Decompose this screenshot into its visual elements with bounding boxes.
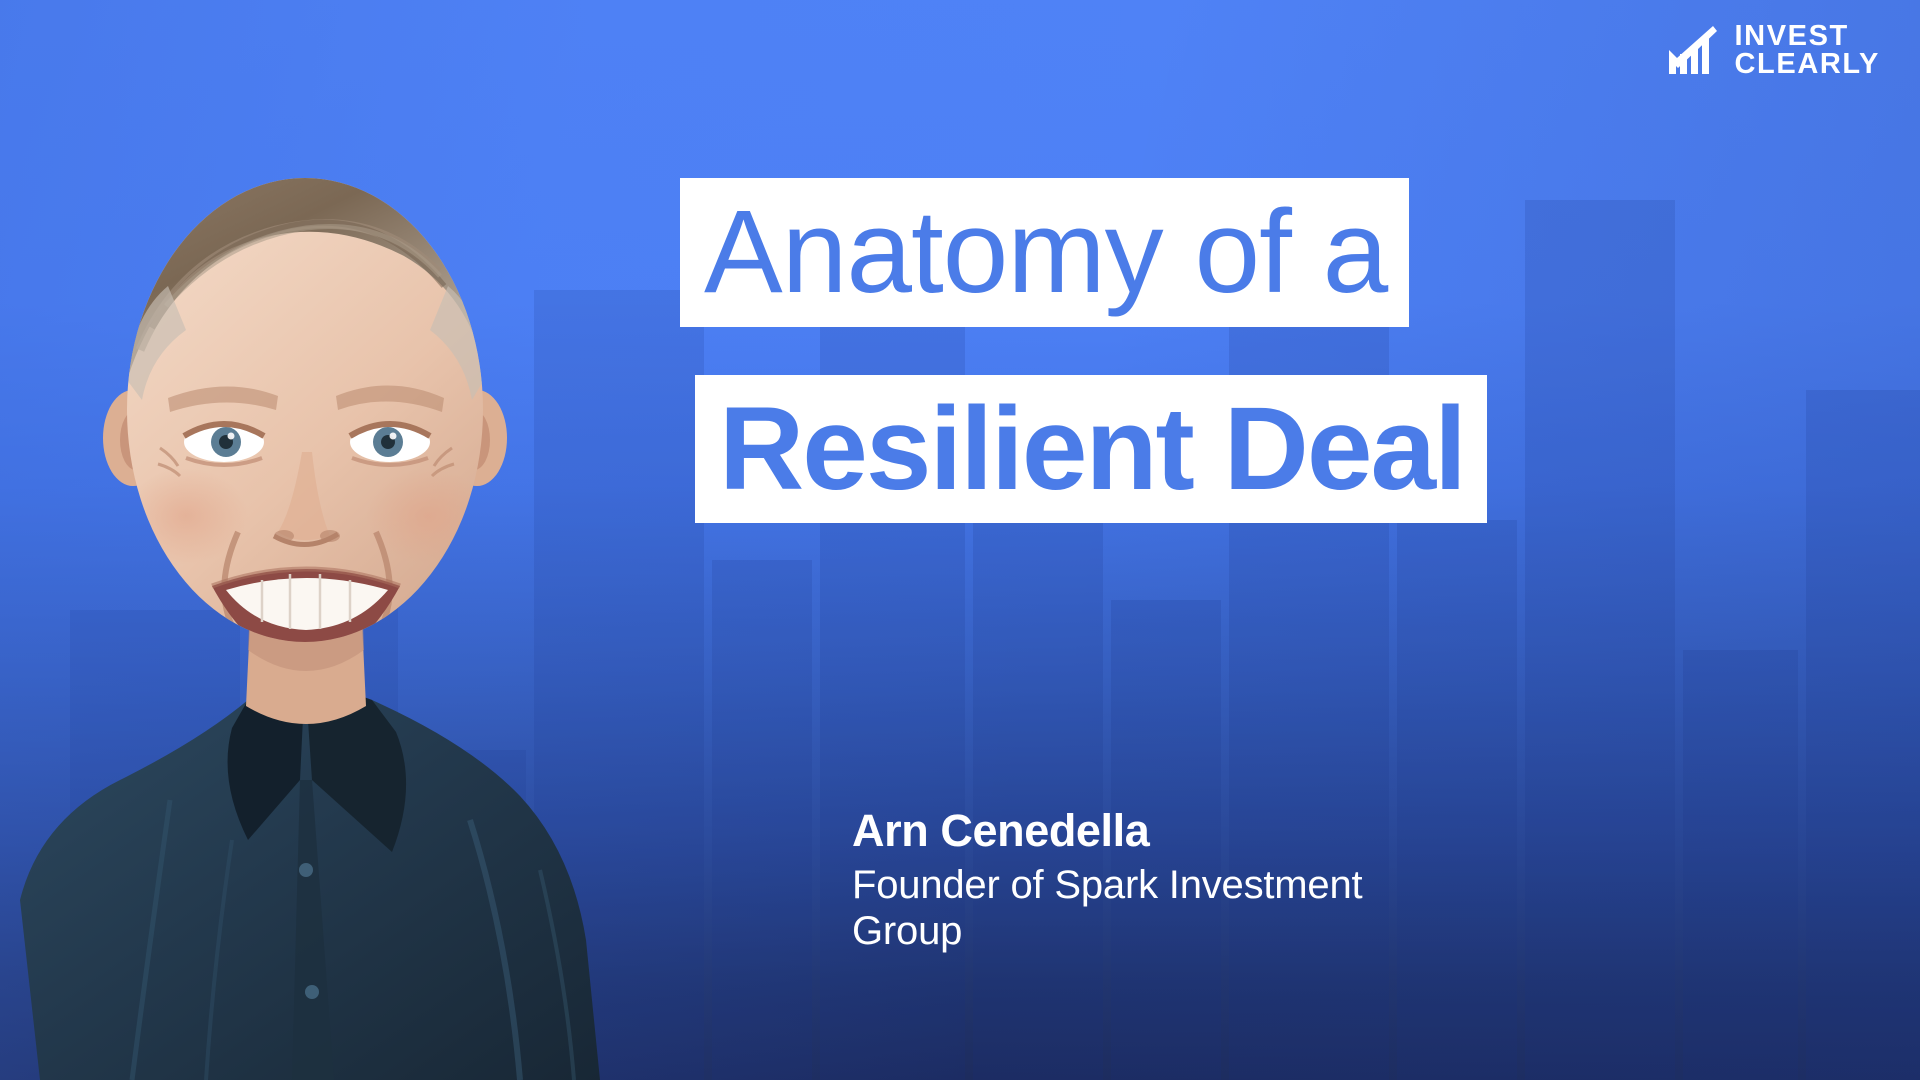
- brand-wordmark-line2: CLEARLY: [1735, 50, 1880, 78]
- brand-wordmark-line1: INVEST: [1735, 22, 1880, 50]
- speaker-portrait: [0, 80, 640, 1080]
- episode-cover-canvas: INVEST CLEARLY Anatomy of a Resilient De…: [0, 0, 1920, 1080]
- speaker-info: Arn Cenedella Founder of Spark Investmen…: [852, 806, 1452, 955]
- brand-logo[interactable]: INVEST CLEARLY: [1667, 22, 1880, 78]
- chart-checkmark-icon: [1667, 24, 1719, 76]
- episode-title: Anatomy of a Resilient Deal: [680, 178, 1487, 523]
- speaker-role: Founder of Spark Investment Group: [852, 862, 1452, 956]
- brand-wordmark: INVEST CLEARLY: [1735, 22, 1880, 78]
- speaker-name: Arn Cenedella: [852, 806, 1452, 856]
- title-line-2: Resilient Deal: [695, 375, 1487, 524]
- title-line-1: Anatomy of a: [680, 178, 1409, 327]
